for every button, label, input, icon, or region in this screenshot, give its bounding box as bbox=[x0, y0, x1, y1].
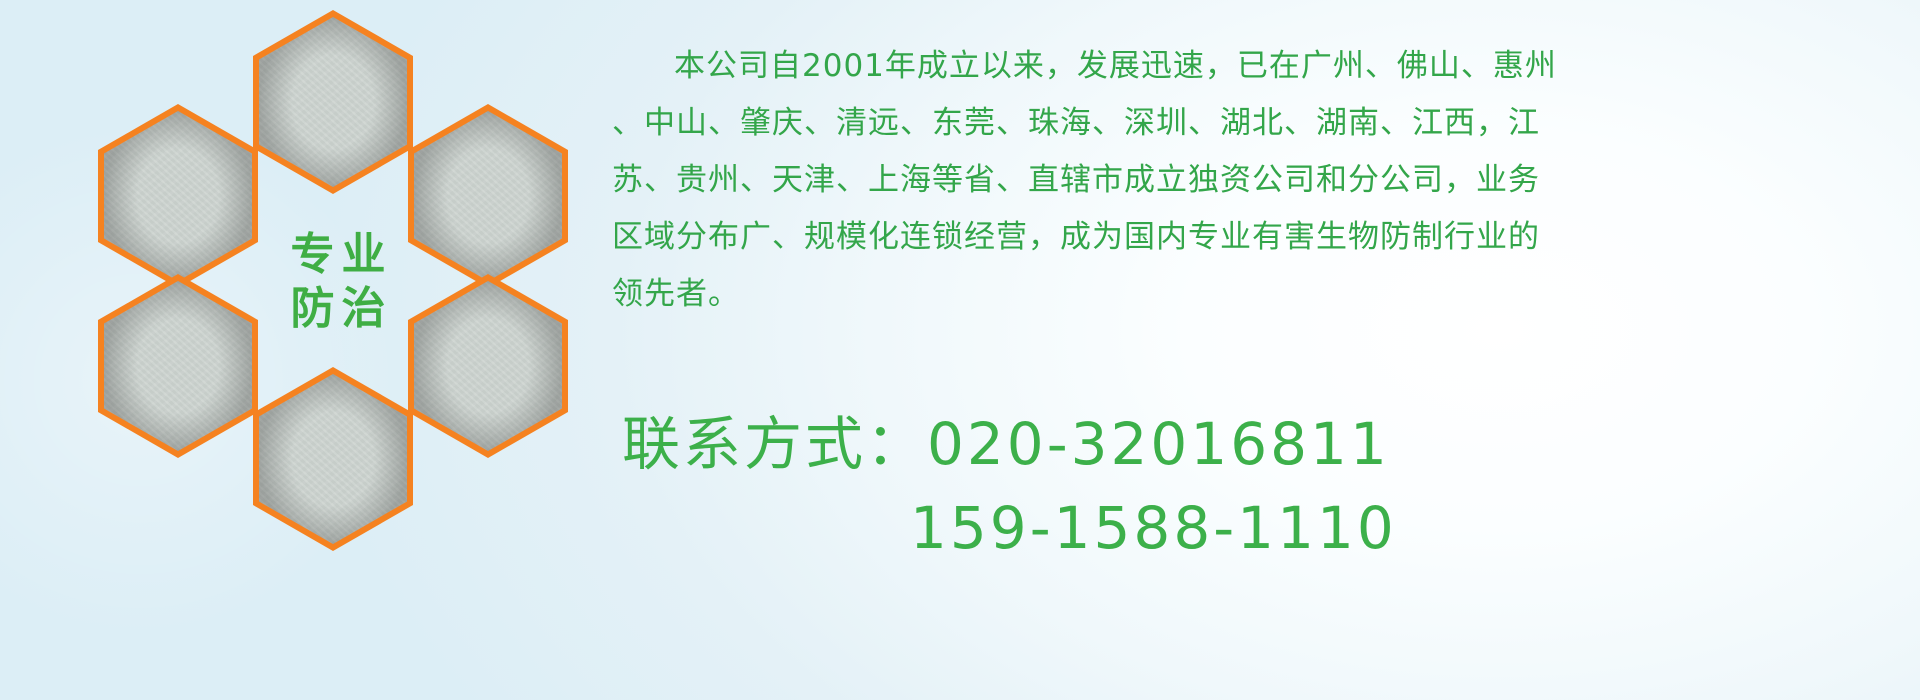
contact-primary-line[interactable]: 联系方式：020-32016811 bbox=[622, 402, 1912, 486]
intro-line-4: 区域分布广、规模化连锁经营，成为国内专业有害生物防制行业的 bbox=[612, 209, 1912, 266]
hex-photo-mosquito bbox=[98, 104, 258, 288]
intro-paragraph: 本公司自2001年成立以来，发展迅速，已在广州、佛山、惠州 、中山、肇庆、清远、… bbox=[612, 38, 1912, 323]
honeycomb-photo-cluster: 专业 防治 bbox=[88, 0, 588, 572]
hex-photo-ant bbox=[253, 367, 413, 551]
hex-photo-cockroach bbox=[408, 104, 568, 288]
contact-secondary-phone[interactable]: 159-1588-1110 bbox=[622, 486, 1912, 570]
hex-photo-stinkbug bbox=[408, 274, 568, 458]
contact-block: 联系方式：020-32016811 159-1588-1110 bbox=[622, 402, 1912, 570]
hex-photo-flies bbox=[98, 274, 258, 458]
slogan-bottom: 防治 bbox=[284, 287, 393, 331]
intro-line-2: 、中山、肇庆、清远、东莞、珠海、深圳、湖北、湖南、江西，江 bbox=[612, 95, 1912, 152]
intro-line-3: 苏、贵州、天津、上海等省、直辖市成立独资公司和分公司，业务 bbox=[612, 152, 1912, 209]
slogan-top: 专业 bbox=[284, 233, 393, 277]
promo-banner: 专业 防治 本公司自2001年成立以来，发展迅速，已在广州、佛山、惠州 、中山、… bbox=[0, 0, 1920, 700]
intro-line-1: 本公司自2001年成立以来，发展迅速，已在广州、佛山、惠州 bbox=[612, 38, 1912, 95]
hex-photo-rats bbox=[253, 10, 413, 194]
slogan-hex: 专业 防治 bbox=[253, 184, 423, 380]
intro-line-5: 领先者。 bbox=[612, 266, 1912, 323]
